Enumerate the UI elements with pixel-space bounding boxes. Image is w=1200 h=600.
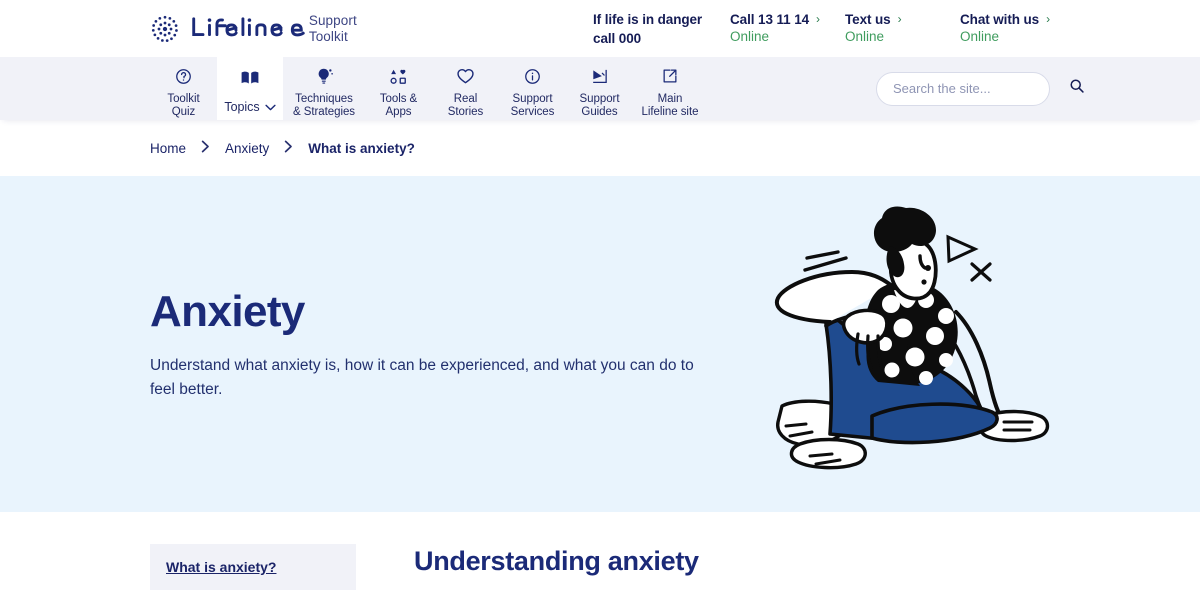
- brand-logo-link[interactable]: [150, 14, 309, 44]
- contact-text-label: Text us: [845, 11, 891, 28]
- shapes-grid-icon: [389, 66, 408, 86]
- sidenav-item-feeling-anxious[interactable]: Feeling anxious: [150, 590, 356, 600]
- nav-item-topics-row: Topics: [224, 98, 275, 116]
- article-heading: Understanding anxiety: [414, 544, 1050, 578]
- contact-call-13-11-14[interactable]: Call 13 11 14 › Online: [730, 11, 845, 46]
- nav-item-tools-apps[interactable]: Tools & Apps: [365, 57, 432, 120]
- info-circle-icon: [524, 66, 541, 86]
- contact-chat-label: Chat with us: [960, 11, 1039, 28]
- hero-text-block: Anxiety Understand what anxiety is, how …: [150, 287, 710, 402]
- nav-item-main-lifeline-site[interactable]: Main Lifeline site: [633, 57, 707, 120]
- article-sidenav: What is anxiety? Feeling anxious: [150, 544, 356, 600]
- chevron-right-icon: ›: [898, 13, 902, 25]
- chevron-right-icon: [201, 140, 210, 156]
- nav-item-tools-apps-label1: Tools &: [380, 93, 417, 106]
- chevron-right-icon: ›: [1046, 13, 1050, 25]
- nav-item-real-stories[interactable]: Real Stories: [432, 57, 499, 120]
- nav-item-real-stories-label2: Stories: [448, 106, 483, 119]
- content-section: What is anxiety? Feeling anxious Underst…: [0, 512, 1200, 600]
- brand-wordmark: [190, 16, 309, 42]
- nav-item-main-site-label2: Lifeline site: [642, 106, 699, 119]
- chevron-down-icon: [265, 98, 276, 116]
- contact-chat-status: Online: [960, 28, 1050, 46]
- emergency-line2: call 000: [593, 30, 730, 47]
- sidenav-item-what-is-anxiety[interactable]: What is anxiety?: [150, 544, 356, 590]
- brand-subtitle-line1: Support: [309, 13, 357, 29]
- nav-items-list: Toolkit Quiz Topics: [150, 57, 707, 120]
- nav-item-support-guides-label1: Support: [580, 93, 620, 106]
- question-circle-icon: [175, 66, 192, 86]
- emergency-notice: If life is in danger call 000: [593, 11, 730, 47]
- nav-item-topics-label: Topics: [224, 101, 259, 114]
- guide-flag-icon: [590, 66, 609, 86]
- seated-woman-illustration: [760, 194, 1060, 484]
- nav-item-main-site-label1: Main: [658, 93, 683, 106]
- chevron-right-icon: ›: [816, 13, 820, 25]
- contact-chat-label-row: Chat with us ›: [960, 11, 1050, 28]
- contact-chat-with-us[interactable]: Chat with us › Online: [960, 11, 1050, 46]
- contact-text-status: Online: [845, 28, 960, 46]
- article-body: Understanding anxiety: [386, 544, 1050, 600]
- page-title: Anxiety: [150, 287, 710, 337]
- contact-call-label-row: Call 13 11 14 ›: [730, 11, 845, 28]
- nav-item-toolkit-quiz-label2: Quiz: [172, 106, 195, 119]
- nav-item-support-services-label2: Services: [511, 106, 555, 119]
- nav-item-support-services[interactable]: Support Services: [499, 57, 566, 120]
- contact-call-status: Online: [730, 28, 845, 46]
- contact-links-group: If life is in danger call 000 Call 13 11…: [593, 11, 1050, 47]
- main-navigation: Toolkit Quiz Topics: [0, 57, 1200, 120]
- brand-subtitle: Support Toolkit: [309, 12, 357, 45]
- nav-item-techniques-strategies[interactable]: Techniques & Strategies: [283, 57, 365, 120]
- nav-item-techniques-label2: & Strategies: [293, 106, 355, 119]
- lightbulb-icon: [315, 66, 334, 86]
- emergency-line1: If life is in danger: [593, 11, 730, 28]
- external-link-icon: [661, 66, 679, 86]
- hero-subtitle: Understand what anxiety is, how it can b…: [150, 354, 698, 402]
- breadcrumb: Home Anxiety What is anxiety?: [0, 120, 1200, 176]
- nav-item-real-stories-label1: Real: [454, 93, 477, 106]
- open-book-icon: [240, 68, 260, 88]
- nav-item-support-guides[interactable]: Support Guides: [566, 57, 633, 120]
- nav-item-tools-apps-label2: Apps: [385, 106, 411, 119]
- seated-woman-illustration-svg: [760, 194, 1060, 484]
- chevron-right-icon: [284, 140, 293, 156]
- contact-text-label-row: Text us ›: [845, 11, 960, 28]
- site-search[interactable]: [876, 72, 1050, 106]
- nav-item-techniques-label1: Techniques: [295, 93, 353, 106]
- nav-item-topics[interactable]: Topics: [217, 57, 283, 120]
- nav-item-support-services-label1: Support: [513, 93, 553, 106]
- lifeline-wordmark-svg: [190, 16, 309, 42]
- contact-text-us[interactable]: Text us › Online: [845, 11, 960, 46]
- heart-icon: [456, 66, 475, 86]
- search-icon[interactable]: [1069, 78, 1085, 99]
- nav-item-toolkit-quiz-label1: Toolkit: [167, 93, 199, 106]
- contact-call-label: Call 13 11 14: [730, 11, 809, 28]
- breadcrumb-item-current: What is anxiety?: [308, 141, 415, 156]
- search-input[interactable]: [893, 81, 1069, 96]
- nav-item-toolkit-quiz[interactable]: Toolkit Quiz: [150, 57, 217, 120]
- nav-item-support-guides-label2: Guides: [581, 106, 617, 119]
- breadcrumb-item-anxiety[interactable]: Anxiety: [225, 141, 269, 156]
- lifeline-dots-logo-icon: [150, 14, 180, 44]
- lifeline-dots-logo-svg: [150, 14, 180, 44]
- breadcrumb-item-home[interactable]: Home: [150, 141, 186, 156]
- brand-subtitle-line2: Toolkit: [309, 29, 357, 45]
- utility-header: Support Toolkit If life is in danger cal…: [0, 0, 1200, 57]
- hero-banner: Anxiety Understand what anxiety is, how …: [0, 176, 1200, 512]
